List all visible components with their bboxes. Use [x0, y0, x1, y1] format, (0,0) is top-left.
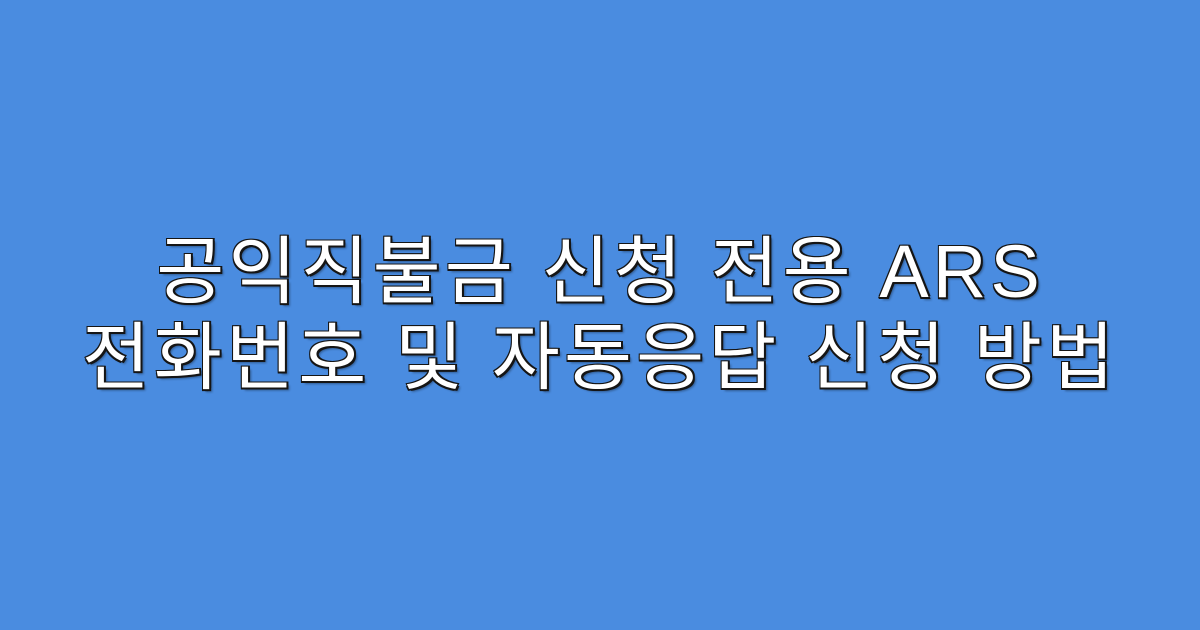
title-line-2: 전화번호 및 자동응답 신청 방법	[82, 315, 1118, 401]
title-line-1: 공익직불금 신청 전용 ARS	[156, 229, 1044, 315]
page-title: 공익직불금 신청 전용 ARS 전화번호 및 자동응답 신청 방법	[40, 229, 1160, 401]
og-image-card: 공익직불금 신청 전용 ARS 전화번호 및 자동응답 신청 방법	[0, 0, 1200, 630]
